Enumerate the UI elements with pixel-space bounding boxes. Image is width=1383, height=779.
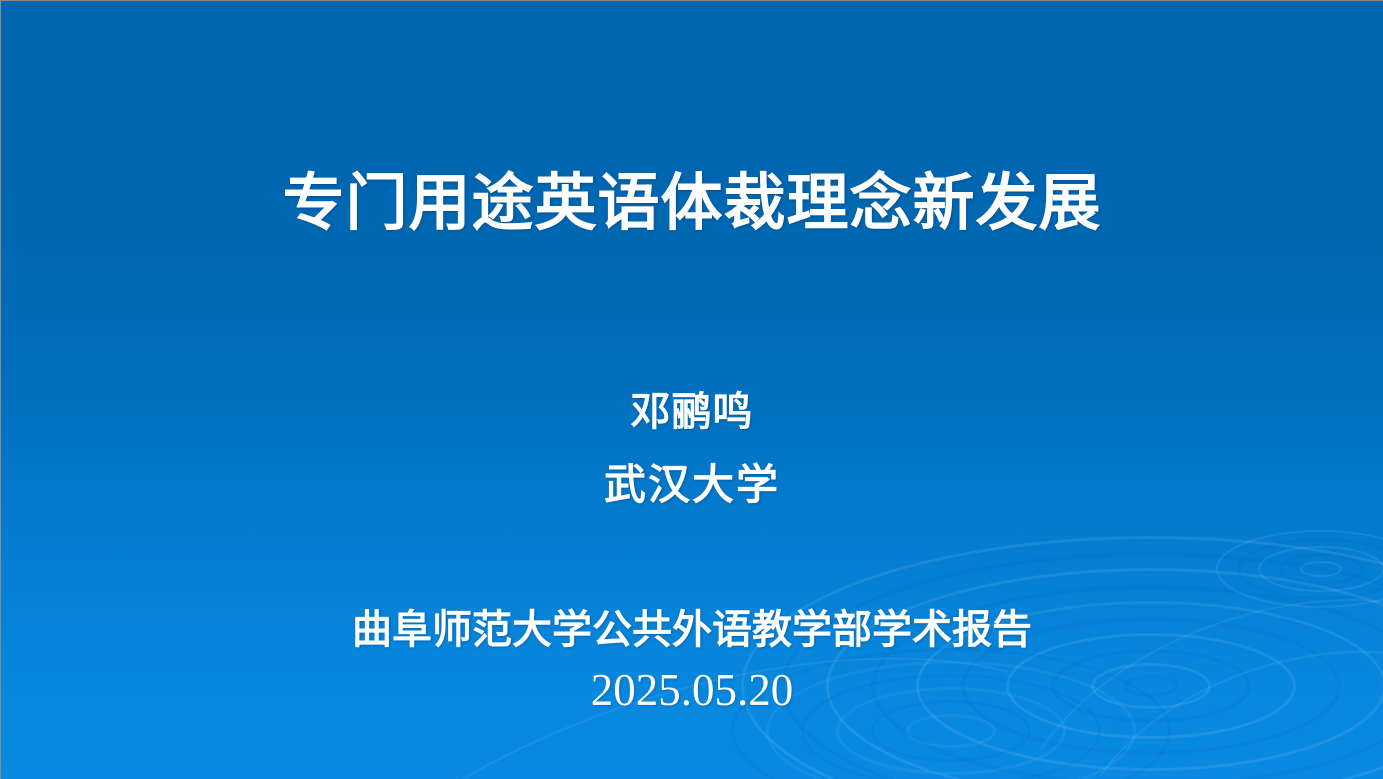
event-name: 曲阜师范大学公共外语教学部学术报告 [1,597,1383,655]
presenter-name: 邓鹂鸣 [1,379,1383,437]
slide-title: 专门用途英语体裁理念新发展 [1,169,1383,240]
presentation-slide: 专门用途英语体裁理念新发展 邓鹂鸣 武汉大学 曲阜师范大学公共外语教学部学术报告… [0,0,1383,779]
slide-content: 专门用途英语体裁理念新发展 邓鹂鸣 武汉大学 曲阜师范大学公共外语教学部学术报告… [1,1,1383,779]
presentation-date: 2025.05.20 [1,664,1383,716]
presenter-affiliation: 武汉大学 [1,451,1383,512]
